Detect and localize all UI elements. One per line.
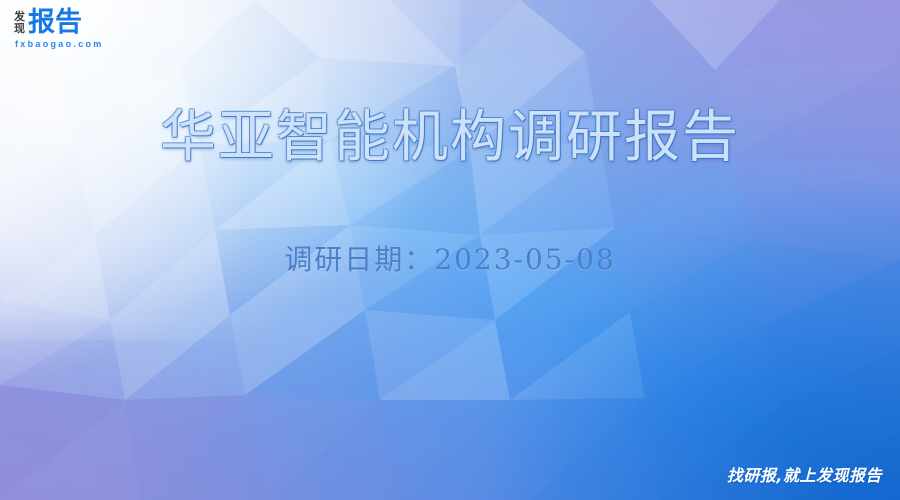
logo-char-xian: 现	[14, 23, 25, 35]
brand-logo[interactable]: 发 现 报告 fxbaogao.com	[14, 9, 104, 49]
logo-wordmark-row: 发 现 报告	[14, 9, 82, 36]
brand-tagline: 找研报,就上发现报告	[727, 462, 882, 486]
logo-wordmark: 报告	[28, 9, 82, 36]
logo-domain-text: fxbaogao.com	[15, 40, 104, 49]
logo-stacked-characters: 发 现	[14, 10, 25, 36]
report-cover-slide: 发 现 报告 fxbaogao.com 华亚智能机构调研报告 调研日期：2023…	[0, 0, 900, 500]
low-poly-background	[0, 0, 900, 500]
